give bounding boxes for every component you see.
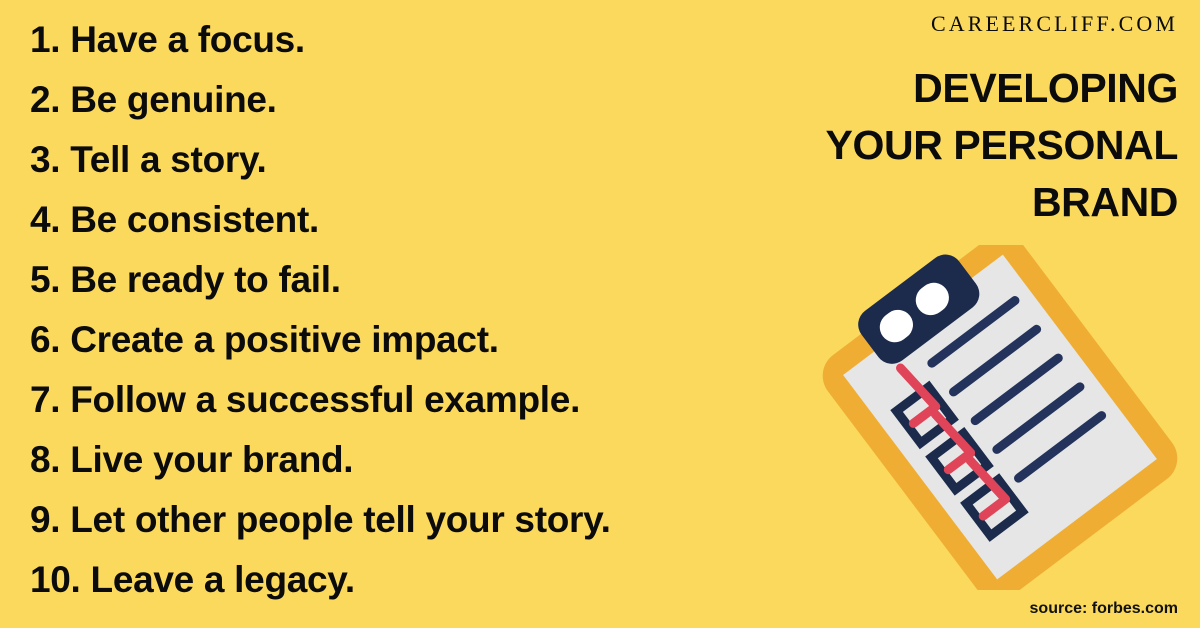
list-item-label: Have a focus.: [70, 10, 305, 70]
list-item-number: 1.: [30, 10, 60, 70]
list-item-label: Be ready to fail.: [70, 250, 340, 310]
tips-list: 1. Have a focus. 2. Be genuine. 3. Tell …: [30, 10, 790, 610]
list-item: 4. Be consistent.: [30, 190, 790, 250]
list-item-number: 2.: [30, 70, 60, 130]
list-item-label: Live your brand.: [70, 430, 353, 490]
page-title-line-1: DEVELOPING: [758, 60, 1178, 117]
page-title: DEVELOPING YOUR PERSONAL BRAND: [758, 60, 1178, 231]
list-item-label: Be consistent.: [70, 190, 319, 250]
list-item-label: Leave a legacy.: [91, 550, 355, 610]
list-item-label: Let other people tell your story.: [70, 490, 610, 550]
list-item-label: Be genuine.: [70, 70, 276, 130]
list-item-number: 9.: [30, 490, 60, 550]
page-title-line-2: YOUR PERSONAL: [758, 117, 1178, 174]
poster-canvas: 1. Have a focus. 2. Be genuine. 3. Tell …: [0, 0, 1200, 628]
page-title-line-3: BRAND: [758, 174, 1178, 231]
list-item-label: Create a positive impact.: [70, 310, 498, 370]
list-item: 9. Let other people tell your story.: [30, 490, 790, 550]
list-item-number: 8.: [30, 430, 60, 490]
list-item-number: 6.: [30, 310, 60, 370]
list-item-number: 7.: [30, 370, 60, 430]
source-credit: source: forbes.com: [1030, 600, 1178, 618]
list-item-label: Tell a story.: [70, 130, 266, 190]
clipboard-checklist-illustration: [800, 245, 1200, 590]
list-item-number: 5.: [30, 250, 60, 310]
list-item: 7. Follow a successful example.: [30, 370, 790, 430]
list-item: 5. Be ready to fail.: [30, 250, 790, 310]
brand-wordmark: CAREERCLIFF.COM: [931, 11, 1178, 37]
list-item: 1. Have a focus.: [30, 10, 790, 70]
list-item: 3. Tell a story.: [30, 130, 790, 190]
list-item-number: 3.: [30, 130, 60, 190]
list-item-number: 4.: [30, 190, 60, 250]
list-item-number: 10.: [30, 550, 81, 610]
list-item: 8. Live your brand.: [30, 430, 790, 490]
list-item: 6. Create a positive impact.: [30, 310, 790, 370]
list-item-label: Follow a successful example.: [70, 370, 580, 430]
list-item: 10. Leave a legacy.: [30, 550, 790, 610]
clipboard-checklist-icon: [800, 245, 1200, 590]
list-item: 2. Be genuine.: [30, 70, 790, 130]
